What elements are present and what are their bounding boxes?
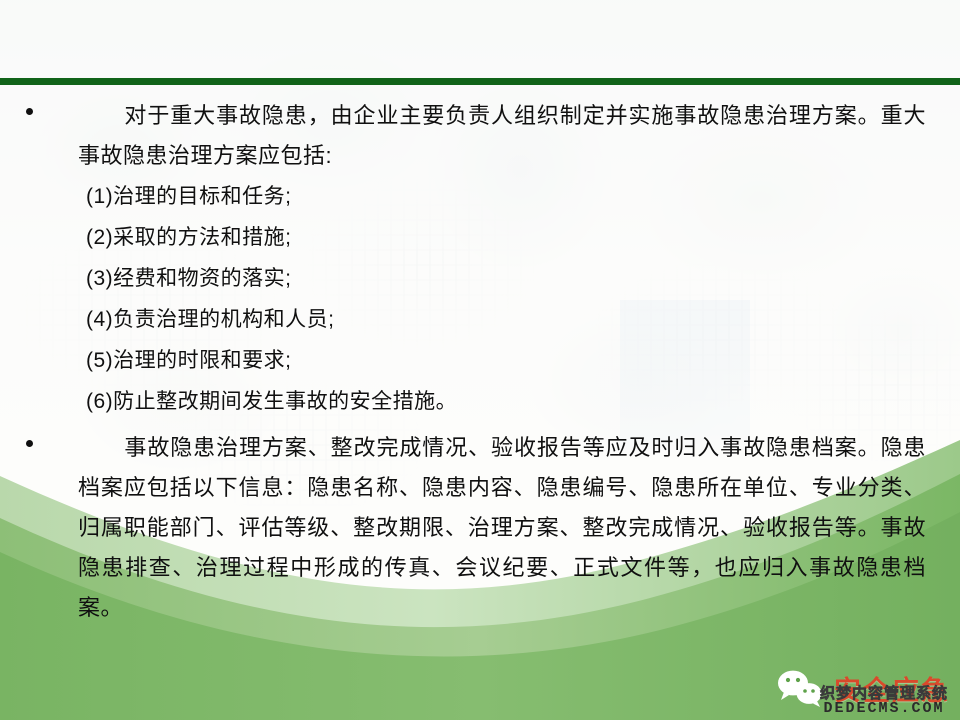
wechat-icon	[774, 668, 826, 708]
top-divider-rule	[0, 78, 960, 85]
paragraph-1-text: 对于重大事故隐患，由企业主要负责人组织制定并实施事故隐患治理方案。重大事故隐患治…	[78, 103, 926, 168]
paragraph-2-text: 事故隐患治理方案、整改完成情况、验收报告等应及时归入事故隐患档案。隐患档案应包括…	[78, 435, 926, 620]
numbered-sublist: (1)治理的目标和任务; (2)采取的方法和措施; (3)经费和物资的落实; (…	[0, 176, 960, 422]
bullet-dot-icon	[26, 108, 33, 115]
slide-body: 对于重大事故隐患，由企业主要负责人组织制定并实施事故隐患治理方案。重大事故隐患治…	[0, 96, 960, 628]
watermark-cn: 织梦内容管理系统	[820, 686, 948, 701]
sublist-item-6: (6)防止整改期间发生事故的安全措施。	[0, 381, 960, 422]
watermark-en: DEDECMS.COM	[820, 701, 948, 716]
sublist-item-5: (5)治理的时限和要求;	[0, 340, 960, 381]
site-watermark: 织梦内容管理系统 DEDECMS.COM	[820, 686, 948, 716]
sublist-item-2: (2)采取的方法和措施;	[0, 217, 960, 258]
paragraph-1: 对于重大事故隐患，由企业主要负责人组织制定并实施事故隐患治理方案。重大事故隐患治…	[22, 96, 960, 176]
bullet-item-1: 对于重大事故隐患，由企业主要负责人组织制定并实施事故隐患治理方案。重大事故隐患治…	[0, 96, 960, 176]
paragraph-2: 事故隐患治理方案、整改完成情况、验收报告等应及时归入事故隐患档案。隐患档案应包括…	[22, 428, 960, 628]
bullet-dot-icon	[26, 440, 33, 447]
sublist-item-1: (1)治理的目标和任务;	[0, 176, 960, 217]
sublist-item-4: (4)负责治理的机构和人员;	[0, 299, 960, 340]
sublist-item-3: (3)经费和物资的落实;	[0, 258, 960, 299]
slide-canvas: 对于重大事故隐患，由企业主要负责人组织制定并实施事故隐患治理方案。重大事故隐患治…	[0, 0, 960, 720]
bullet-item-2: 事故隐患治理方案、整改完成情况、验收报告等应及时归入事故隐患档案。隐患档案应包括…	[0, 428, 960, 628]
